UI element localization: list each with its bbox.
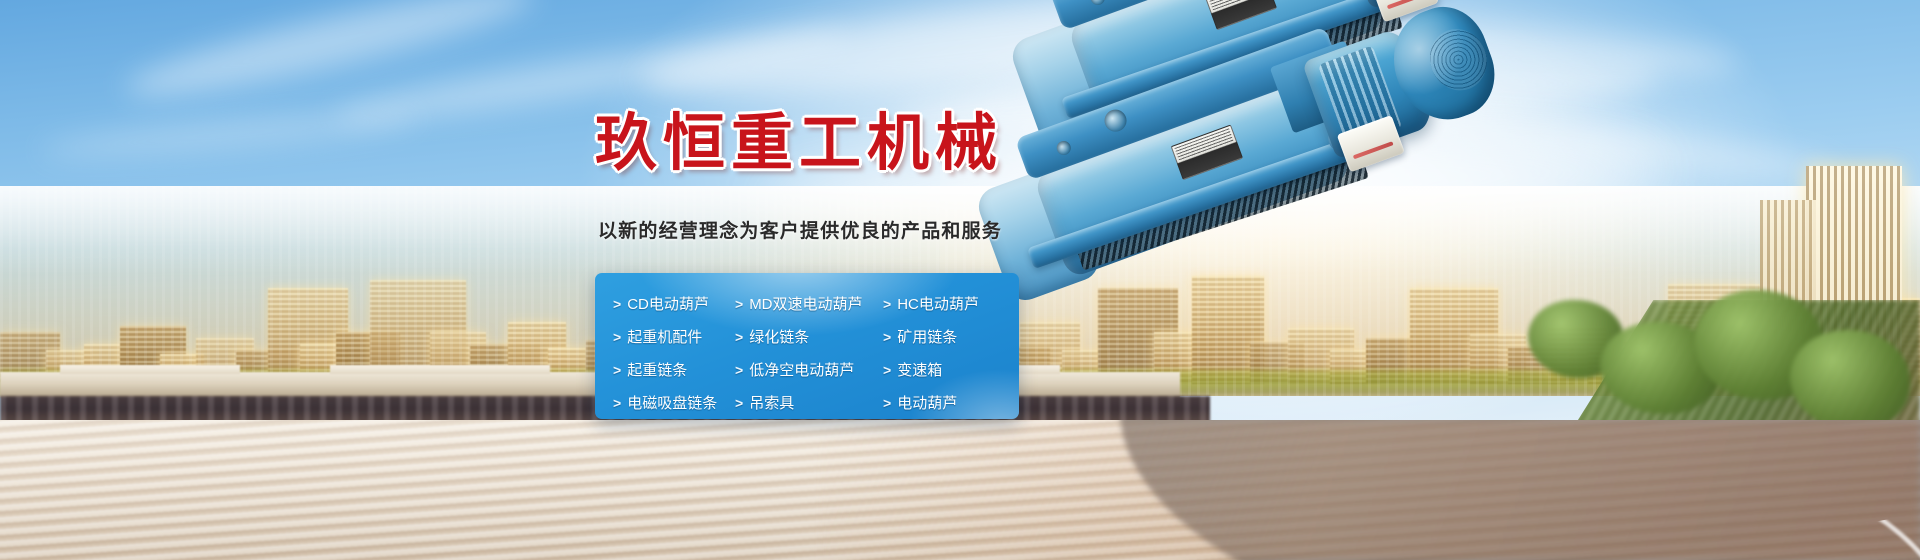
product-link[interactable]: >HC电动葫芦: [883, 293, 979, 314]
product-label: 矿用链条: [897, 326, 957, 347]
product-link[interactable]: >绿化链条: [735, 326, 883, 347]
chevron-right-icon: >: [613, 329, 621, 345]
chevron-right-icon: >: [883, 296, 891, 312]
product-list-grid: >CD电动葫芦>MD双速电动葫芦>HC电动葫芦>起重机配件>绿化链条>矿用链条>…: [595, 273, 1019, 419]
product-link[interactable]: >低净空电动葫芦: [735, 359, 883, 380]
product-link[interactable]: >矿用链条: [883, 326, 957, 347]
product-link[interactable]: >起重机配件: [613, 326, 735, 347]
product-link[interactable]: >电动葫芦: [883, 392, 957, 413]
chevron-right-icon: >: [613, 362, 621, 378]
chevron-right-icon: >: [883, 362, 891, 378]
product-label: HC电动葫芦: [897, 293, 979, 314]
product-label: 吊索具: [749, 392, 794, 413]
product-link[interactable]: >变速箱: [883, 359, 942, 380]
product-label: 低净空电动葫芦: [749, 359, 854, 380]
promotional-banner: 玖恒重工机械 以新的经营理念为客户提供优良的产品和服务 >CD电动葫芦>MD双速…: [0, 0, 1920, 560]
product-label: 变速箱: [897, 359, 942, 380]
product-label: 起重链条: [627, 359, 687, 380]
product-link[interactable]: >电磁吸盘链条: [613, 392, 735, 413]
product-link[interactable]: >CD电动葫芦: [613, 293, 735, 314]
product-label: 绿化链条: [749, 326, 809, 347]
product-label: 电磁吸盘链条: [627, 392, 717, 413]
chevron-right-icon: >: [613, 296, 621, 312]
chevron-right-icon: >: [735, 296, 743, 312]
product-link[interactable]: >吊索具: [735, 392, 883, 413]
product-label: 起重机配件: [627, 326, 702, 347]
product-link[interactable]: >MD双速电动葫芦: [735, 293, 883, 314]
product-label: 电动葫芦: [897, 392, 957, 413]
product-row: >电磁吸盘链条>吊索具>电动葫芦: [613, 386, 1019, 419]
product-row: >CD电动葫芦>MD双速电动葫芦>HC电动葫芦: [613, 287, 1019, 320]
chevron-right-icon: >: [883, 329, 891, 345]
chevron-right-icon: >: [735, 362, 743, 378]
chevron-right-icon: >: [735, 395, 743, 411]
tagline: 以新的经营理念为客户提供优良的产品和服务: [598, 216, 1002, 243]
page-title: 玖恒重工机械: [595, 112, 1003, 174]
electric-hoist-group: [880, 40, 1920, 460]
product-row: >起重机配件>绿化链条>矿用链条: [613, 320, 1019, 353]
product-link[interactable]: >起重链条: [613, 359, 735, 380]
product-row: >起重链条>低净空电动葫芦>变速箱: [613, 353, 1019, 386]
chevron-right-icon: >: [613, 395, 621, 411]
product-label: MD双速电动葫芦: [749, 293, 862, 314]
product-list-box: >CD电动葫芦>MD双速电动葫芦>HC电动葫芦>起重机配件>绿化链条>矿用链条>…: [595, 273, 1019, 419]
product-label: CD电动葫芦: [627, 293, 709, 314]
chevron-right-icon: >: [735, 329, 743, 345]
chevron-right-icon: >: [883, 395, 891, 411]
